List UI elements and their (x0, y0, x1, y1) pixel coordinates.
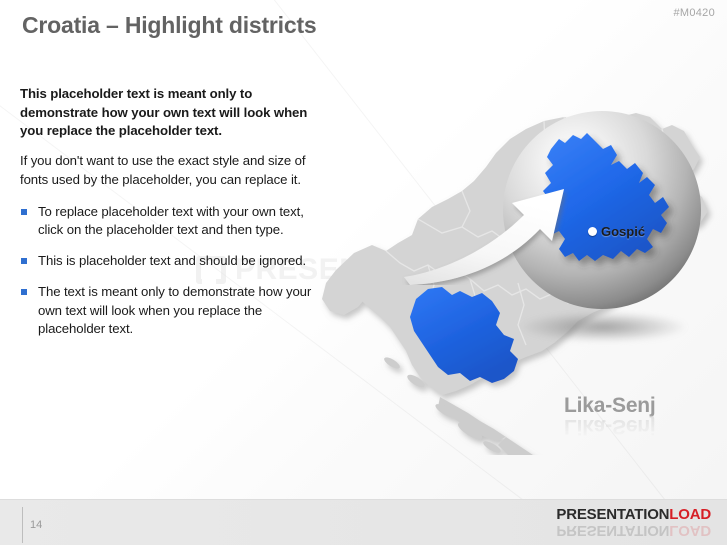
document-code: #M0420 (673, 7, 715, 19)
bullet-square-icon (21, 209, 27, 215)
magnifier-shadow (520, 312, 686, 342)
brand-logo[interactable]: PRESENTATIONLOAD (556, 506, 711, 523)
body-paragraph: If you don't want to use the exact style… (20, 152, 312, 189)
brand-primary-text: PRESENTATION (556, 506, 669, 523)
brand-accent-reflection: LOAD (669, 522, 711, 539)
list-item[interactable]: The text is meant only to demonstrate ho… (20, 283, 312, 339)
brand-logo-reflection: PRESENTATIONLOAD (556, 522, 711, 539)
slide-canvas: Croatia – Highlight districts #M0420 PRE… (0, 0, 727, 545)
bullet-list: To replace placeholder text with your ow… (20, 203, 312, 339)
lead-paragraph: This placeholder text is meant only to d… (20, 85, 312, 141)
list-item[interactable]: To replace placeholder text with your ow… (20, 203, 312, 240)
list-item-text: To replace placeholder text with your ow… (38, 204, 304, 238)
district-name-reflection: Lika-Senj (564, 414, 656, 438)
list-item-text: This is placeholder text and should be i… (38, 253, 306, 268)
text-content-column: This placeholder text is meant only to d… (20, 85, 312, 351)
page-title: Croatia – Highlight districts (22, 12, 317, 39)
list-item[interactable]: This is placeholder text and should be i… (20, 252, 312, 271)
city-label: Gospić (601, 224, 645, 239)
brand-primary-reflection: PRESENTATION (556, 522, 669, 539)
bullet-square-icon (21, 289, 27, 295)
bullet-square-icon (21, 258, 27, 264)
page-number: 14 (30, 519, 42, 531)
pointer-arrow (400, 175, 600, 285)
page-number-divider (22, 507, 23, 543)
brand-accent-text: LOAD (669, 506, 711, 523)
list-item-text: The text is meant only to demonstrate ho… (38, 284, 311, 336)
